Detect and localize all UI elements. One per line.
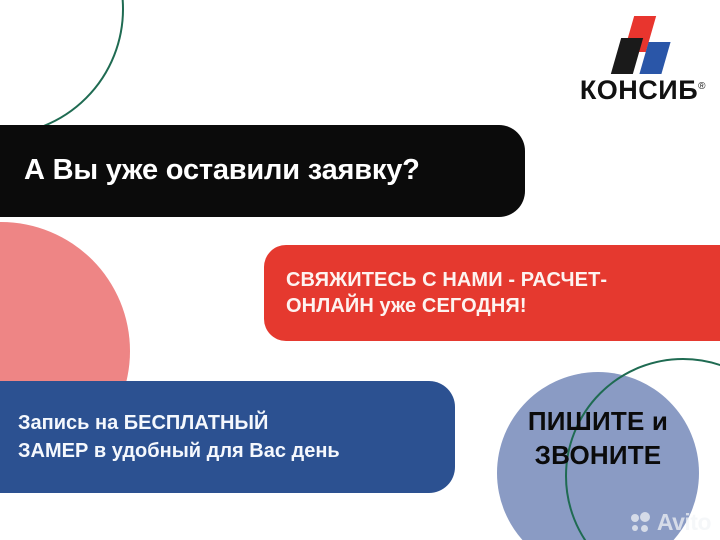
contact-cta-text: ПИШИТЕ и ЗВОНИТЕ — [497, 404, 699, 473]
offer-text: СВЯЖИТЕСЬ С НАМИ - РАСЧЕТ- ОНЛАЙН уже СЕ… — [286, 267, 607, 320]
logo-mark-icon — [566, 16, 706, 72]
contact-line-1: ПИШИТЕ и — [528, 406, 668, 436]
offer-line-1: СВЯЖИТЕСЬ С НАМИ - РАСЧЕТ- — [286, 269, 607, 291]
logo-parallelogram-black-icon — [611, 38, 643, 74]
measure-line-1: Запись на БЕСПЛАТНЫЙ — [18, 412, 268, 434]
brand-logo: КОНСИБ® — [566, 16, 706, 108]
brand-name-text: КОНСИБ — [580, 75, 698, 105]
offer-block: СВЯЖИТЕСЬ С НАМИ - РАСЧЕТ- ОНЛАЙН уже СЕ… — [264, 245, 720, 341]
measure-line-2: ЗАМЕР в удобный для Вас день — [18, 440, 340, 462]
contact-line-2: ЗВОНИТЕ — [535, 440, 662, 470]
promo-banner: КОНСИБ® А Вы уже оставили заявку? СВЯЖИТ… — [0, 0, 720, 540]
green-ring-top-decor — [0, 0, 124, 136]
avito-dots-icon — [631, 512, 653, 534]
free-measurement-text: Запись на БЕСПЛАТНЫЙ ЗАМЕР в удобный для… — [18, 409, 340, 466]
avito-wordmark-text: Avito — [657, 511, 711, 534]
brand-wordmark: КОНСИБ® — [566, 77, 706, 104]
free-measurement-block: Запись на БЕСПЛАТНЫЙ ЗАМЕР в удобный для… — [0, 381, 455, 493]
registered-trademark-mark: ® — [698, 81, 706, 92]
offer-line-2: ОНЛАЙН уже СЕГОДНЯ! — [286, 295, 527, 317]
headline-text: А Вы уже оставили заявку? — [24, 155, 420, 187]
avito-watermark: Avito — [631, 511, 711, 534]
headline-block: А Вы уже оставили заявку? — [0, 125, 525, 217]
